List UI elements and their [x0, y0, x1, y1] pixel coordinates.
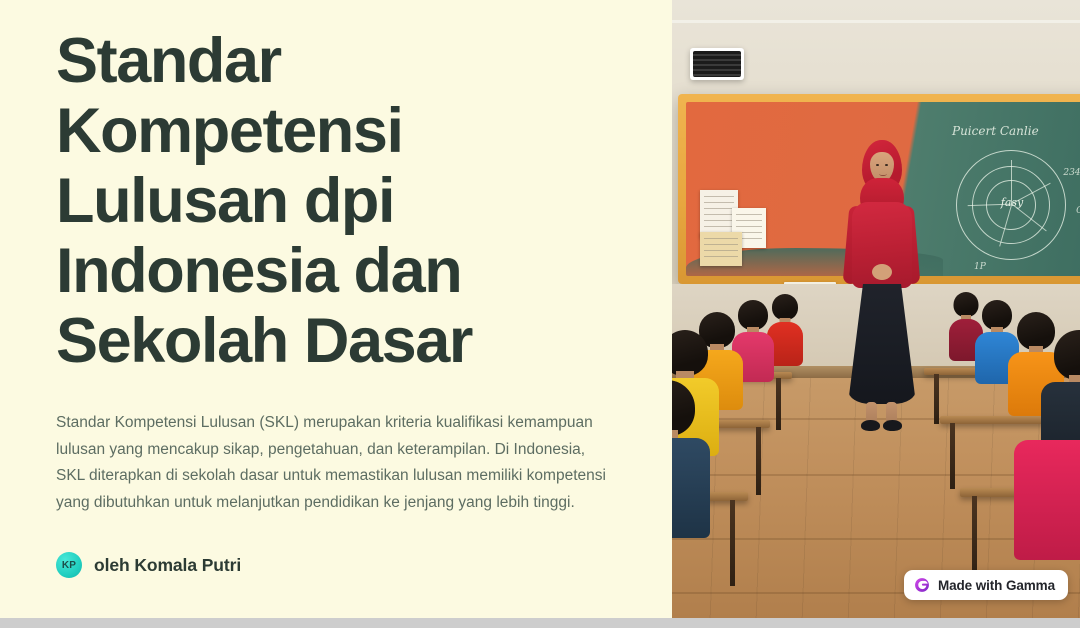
chalk-diagram: Puicert Canlie fasy 234 C3 Core 1P	[944, 128, 1080, 268]
teacher-figure	[840, 140, 924, 430]
donut-spoke	[1011, 160, 1012, 204]
author-byline: KP oleh Komala Putri	[56, 552, 616, 578]
teacher-hands	[872, 264, 892, 280]
vent-louvers	[693, 51, 741, 77]
body-paragraph: Standar Kompetensi Lulusan (SKL) merupak…	[56, 410, 616, 516]
text-panel: Standar Kompetensi Lulusan dpi Indonesia…	[0, 0, 672, 618]
chalk-side-label: Core	[1076, 206, 1080, 216]
student-desk	[940, 416, 1044, 424]
made-with-gamma-badge[interactable]: Made with Gamma	[904, 570, 1068, 600]
teacher-shoe	[883, 420, 902, 431]
bottom-strip	[0, 618, 1080, 628]
wall-seam	[672, 20, 1080, 23]
gamma-badge-label: Made with Gamma	[938, 578, 1055, 593]
paper-sheet	[700, 232, 742, 266]
page-title: Standar Kompetensi Lulusan dpi Indonesia…	[56, 26, 576, 376]
classroom-photo: Puicert Canlie fasy 234 C3 Core 1P	[672, 0, 1080, 618]
teacher-shoe	[861, 420, 880, 431]
chalk-side-label: 1P	[974, 262, 986, 272]
author-name: oleh Komala Putri	[94, 555, 241, 576]
paper-lines	[704, 238, 738, 261]
presentation-slide: Standar Kompetensi Lulusan dpi Indonesia…	[0, 0, 1080, 618]
chalk-diagram-title: Puicert Canlie	[952, 124, 1039, 138]
gamma-logo-icon	[914, 577, 930, 593]
student-figure	[1024, 440, 1080, 590]
avatar: KP	[56, 552, 82, 578]
photo-scene: Puicert Canlie fasy 234 C3 Core 1P	[672, 0, 1080, 618]
wall-vent-icon	[690, 48, 744, 80]
paper-lines	[704, 196, 734, 233]
teacher-skirt	[848, 284, 916, 404]
student-figure	[672, 380, 702, 530]
chalk-side-label: 234 C3	[1063, 168, 1080, 178]
